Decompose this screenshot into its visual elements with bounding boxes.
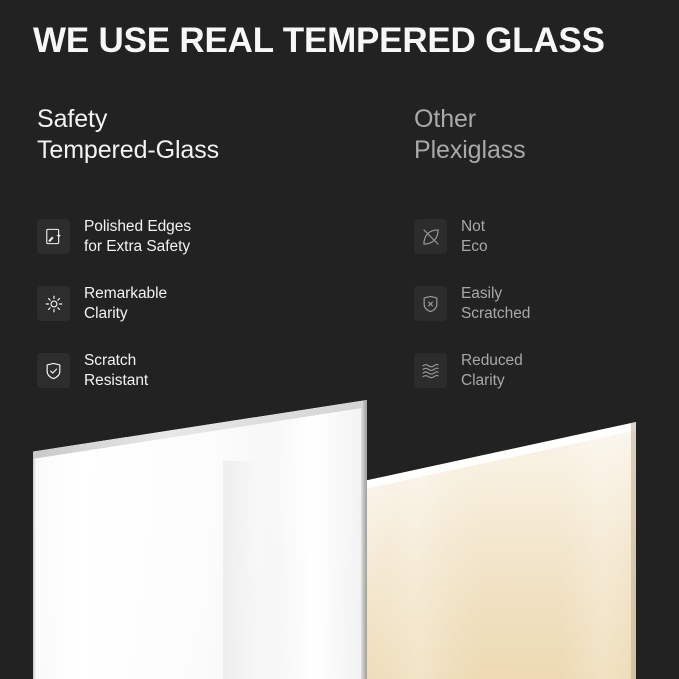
feature-label-line2: for Extra Safety — [84, 237, 191, 257]
feature-label-line1: Polished Edges — [84, 218, 191, 235]
leaf-crossed-out-icon — [414, 219, 447, 254]
sun-clarity-icon — [37, 286, 70, 321]
feature-label: Reduced Clarity — [461, 351, 523, 390]
feature-label: Scratch Resistant — [84, 351, 148, 390]
feature-label-line1: Scratch — [84, 352, 136, 369]
feature-label: Not Eco — [461, 217, 488, 256]
feature-label-line2: Clarity — [84, 304, 167, 324]
feature-item: Not Eco — [414, 203, 679, 270]
column-title-line2: Plexiglass — [414, 136, 526, 164]
column-title-line1: Safety — [37, 105, 107, 133]
page-title: WE USE REAL TEMPERED GLASS — [33, 19, 663, 63]
column-title-line1: Other — [414, 105, 476, 133]
feature-list-plexiglass: Not Eco Easily Scratched — [414, 203, 679, 404]
tempered-glass-sheen — [33, 400, 367, 679]
feature-label-line2: Scratched — [461, 304, 530, 324]
feature-item: Easily Scratched — [414, 270, 679, 337]
feature-label-line1: Not — [461, 218, 485, 235]
plexiglass-sheen — [363, 422, 636, 679]
feature-label: Polished Edges for Extra Safety — [84, 217, 191, 256]
tempered-glass-panel — [33, 400, 367, 679]
tempered-glass-right-edge — [361, 400, 367, 679]
feature-item: Reduced Clarity — [414, 337, 679, 404]
shield-x-icon — [414, 286, 447, 321]
feature-label: Remarkable Clarity — [84, 284, 167, 323]
feature-label-line2: Clarity — [461, 371, 523, 391]
feature-label-line1: Reduced — [461, 352, 523, 369]
feature-label-line2: Eco — [461, 237, 488, 257]
column-plexiglass: Other Plexiglass Not Eco — [414, 104, 679, 166]
plexiglass-panel — [363, 422, 636, 679]
product-photo — [0, 396, 679, 679]
feature-label-line1: Remarkable — [84, 285, 167, 302]
feature-label: Easily Scratched — [461, 284, 530, 323]
feature-list-tempered-glass: Polished Edges for Extra Safety — [37, 203, 377, 404]
column-title-plexiglass: Other Plexiglass — [414, 104, 679, 166]
product-comparison-infographic: WE USE REAL TEMPERED GLASS Safety Temper… — [0, 0, 679, 679]
shield-check-icon — [37, 353, 70, 388]
feature-label-line2: Resistant — [84, 371, 148, 391]
wavy-distortion-icon — [414, 353, 447, 388]
column-tempered-glass: Safety Tempered-Glass Polished Edges — [37, 104, 377, 166]
tempered-glass-reflection — [223, 461, 313, 679]
comparison-columns: Safety Tempered-Glass Polished Edges — [0, 104, 679, 396]
column-title-tempered-glass: Safety Tempered-Glass — [37, 104, 377, 166]
polished-edge-sparkle-icon — [37, 219, 70, 254]
feature-label-line1: Easily — [461, 285, 502, 302]
plexiglass-right-edge — [631, 422, 636, 679]
feature-item: Scratch Resistant — [37, 337, 377, 404]
tempered-glass-left-edge — [33, 400, 36, 679]
feature-item: Remarkable Clarity — [37, 270, 377, 337]
feature-item: Polished Edges for Extra Safety — [37, 203, 377, 270]
column-title-line2: Tempered-Glass — [37, 136, 219, 164]
